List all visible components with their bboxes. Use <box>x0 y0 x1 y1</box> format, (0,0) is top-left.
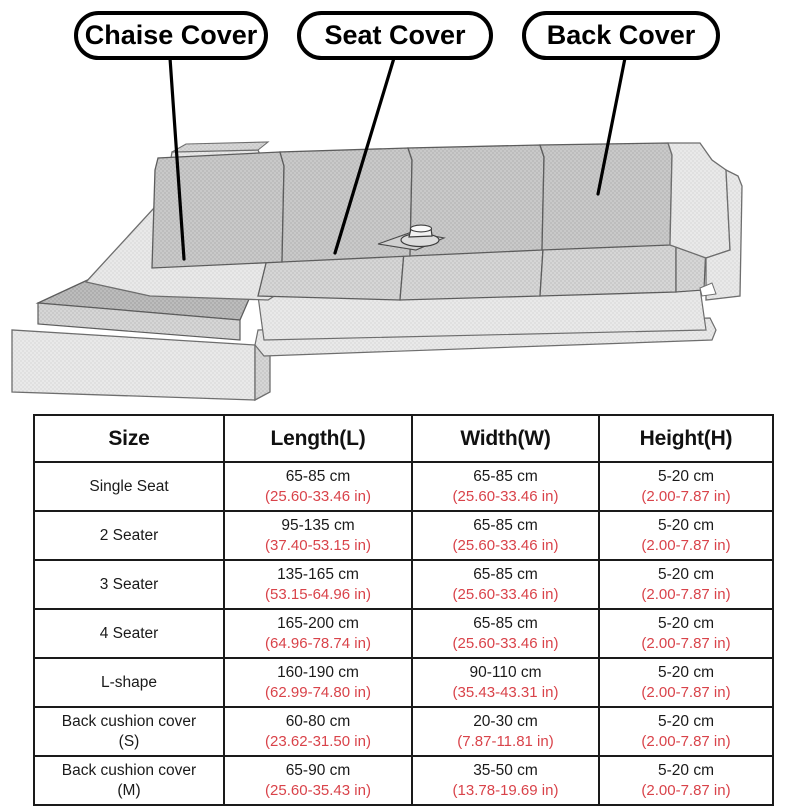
size-label: L-shape <box>35 673 223 693</box>
cell-length-cm: 60-80 cm <box>225 712 411 732</box>
cell-width-inch: (25.60-33.46 in) <box>413 585 598 604</box>
cell-size: 4 Seater <box>34 609 224 658</box>
cell-height-inch: (2.00-7.87 in) <box>600 585 772 604</box>
cell-length-cm: 95-135 cm <box>225 516 411 536</box>
back-cushion-1 <box>152 152 284 268</box>
cell-height: 5-20 cm(2.00-7.87 in) <box>599 707 773 756</box>
cell-height-inch: (2.00-7.87 in) <box>600 487 772 506</box>
table-row: 4 Seater165-200 cm(64.96-78.74 in)65-85 … <box>34 609 773 658</box>
table-row: 3 Seater135-165 cm(53.15-64.96 in)65-85 … <box>34 560 773 609</box>
cell-length: 165-200 cm(64.96-78.74 in) <box>224 609 412 658</box>
cell-height-inch: (2.00-7.87 in) <box>600 732 772 751</box>
callout-label-back: Back Cover <box>547 20 696 50</box>
cell-height: 5-20 cm(2.00-7.87 in) <box>599 756 773 805</box>
cell-width-inch: (25.60-33.46 in) <box>413 634 598 653</box>
cell-width-cm: 65-85 cm <box>413 516 598 536</box>
cell-width: 20-30 cm(7.87-11.81 in) <box>412 707 599 756</box>
cell-length-cm: 165-200 cm <box>225 614 411 634</box>
cell-length-inch: (62.99-74.80 in) <box>225 683 411 702</box>
size-label: Back cushion cover <box>35 761 223 781</box>
sofa-illustration: Chaise Cover Seat Cover Back Cover <box>0 0 800 408</box>
cell-length-inch: (53.15-64.96 in) <box>225 585 411 604</box>
cell-height: 5-20 cm(2.00-7.87 in) <box>599 462 773 511</box>
cell-width-inch: (25.60-33.46 in) <box>413 487 598 506</box>
cell-width: 65-85 cm(25.60-33.46 in) <box>412 511 599 560</box>
cell-length: 160-190 cm(62.99-74.80 in) <box>224 658 412 707</box>
cell-length-inch: (23.62-31.50 in) <box>225 732 411 751</box>
table-row: Single Seat65-85 cm(25.60-33.46 in)65-85… <box>34 462 773 511</box>
cell-height: 5-20 cm(2.00-7.87 in) <box>599 560 773 609</box>
cell-height: 5-20 cm(2.00-7.87 in) <box>599 609 773 658</box>
cell-width-cm: 90-110 cm <box>413 663 598 683</box>
size-label: Single Seat <box>35 477 223 497</box>
size-label: 2 Seater <box>35 526 223 546</box>
cell-length-inch: (25.60-35.43 in) <box>225 781 411 800</box>
callout-label-chaise: Chaise Cover <box>85 20 258 50</box>
cell-width-inch: (7.87-11.81 in) <box>413 732 598 751</box>
cell-size: L-shape <box>34 658 224 707</box>
cell-height-cm: 5-20 cm <box>600 712 772 732</box>
cell-height-cm: 5-20 cm <box>600 467 772 487</box>
cell-height-cm: 5-20 cm <box>600 565 772 585</box>
cell-width: 35-50 cm(13.78-19.69 in) <box>412 756 599 805</box>
cell-length-cm: 160-190 cm <box>225 663 411 683</box>
table-header-row: Size Length(L) Width(W) Height(H) <box>34 415 773 462</box>
cell-height-inch: (2.00-7.87 in) <box>600 683 772 702</box>
cell-height: 5-20 cm(2.00-7.87 in) <box>599 658 773 707</box>
cell-width: 65-85 cm(25.60-33.46 in) <box>412 462 599 511</box>
cell-height-inch: (2.00-7.87 in) <box>600 781 772 800</box>
cell-width-cm: 65-85 cm <box>413 565 598 585</box>
cell-width: 65-85 cm(25.60-33.46 in) <box>412 560 599 609</box>
cell-length-inch: (64.96-78.74 in) <box>225 634 411 653</box>
cell-length-cm: 135-165 cm <box>225 565 411 585</box>
size-chart: Size Length(L) Width(W) Height(H) Single… <box>33 414 772 806</box>
cell-width: 90-110 cm(35.43-43.31 in) <box>412 658 599 707</box>
cell-length-inch: (37.40-53.15 in) <box>225 536 411 555</box>
column-header-width: Width(W) <box>412 415 599 462</box>
cell-size: Single Seat <box>34 462 224 511</box>
cell-height-cm: 5-20 cm <box>600 761 772 781</box>
cell-length: 95-135 cm(37.40-53.15 in) <box>224 511 412 560</box>
cell-length-inch: (25.60-33.46 in) <box>225 487 411 506</box>
cell-size: Back cushion cover(S) <box>34 707 224 756</box>
size-variant: (M) <box>35 781 223 801</box>
callout-label-seat: Seat Cover <box>324 20 466 50</box>
cell-size: Back cushion cover(M) <box>34 756 224 805</box>
cell-height-cm: 5-20 cm <box>600 663 772 683</box>
sofa-body <box>12 142 742 400</box>
cell-length: 65-90 cm(25.60-35.43 in) <box>224 756 412 805</box>
cell-height-inch: (2.00-7.87 in) <box>600 634 772 653</box>
column-header-height: Height(H) <box>599 415 773 462</box>
cell-width-cm: 20-30 cm <box>413 712 598 732</box>
cell-height-cm: 5-20 cm <box>600 516 772 536</box>
cell-length: 65-85 cm(25.60-33.46 in) <box>224 462 412 511</box>
cell-height: 5-20 cm(2.00-7.87 in) <box>599 511 773 560</box>
cell-length-cm: 65-85 cm <box>225 467 411 487</box>
size-variant: (S) <box>35 732 223 752</box>
cell-width-inch: (25.60-33.46 in) <box>413 536 598 555</box>
size-chart-table: Size Length(L) Width(W) Height(H) Single… <box>33 414 774 806</box>
cell-height-cm: 5-20 cm <box>600 614 772 634</box>
cell-length-cm: 65-90 cm <box>225 761 411 781</box>
table-row: 2 Seater95-135 cm(37.40-53.15 in)65-85 c… <box>34 511 773 560</box>
cell-length: 135-165 cm(53.15-64.96 in) <box>224 560 412 609</box>
cell-length: 60-80 cm(23.62-31.50 in) <box>224 707 412 756</box>
chaise-base <box>12 330 255 400</box>
table-row: Back cushion cover(M)65-90 cm(25.60-35.4… <box>34 756 773 805</box>
cell-width-cm: 65-85 cm <box>413 614 598 634</box>
column-header-length: Length(L) <box>224 415 412 462</box>
cell-size: 2 Seater <box>34 511 224 560</box>
table-row: L-shape160-190 cm(62.99-74.80 in)90-110 … <box>34 658 773 707</box>
size-label: 4 Seater <box>35 624 223 644</box>
cell-height-inch: (2.00-7.87 in) <box>600 536 772 555</box>
cup-rim <box>411 225 432 232</box>
right-armrest <box>668 143 730 258</box>
table-row: Back cushion cover(S)60-80 cm(23.62-31.5… <box>34 707 773 756</box>
cell-width-cm: 35-50 cm <box>413 761 598 781</box>
cell-width-cm: 65-85 cm <box>413 467 598 487</box>
size-label: Back cushion cover <box>35 712 223 732</box>
column-header-size: Size <box>34 415 224 462</box>
cell-size: 3 Seater <box>34 560 224 609</box>
cell-width-inch: (13.78-19.69 in) <box>413 781 598 800</box>
size-label: 3 Seater <box>35 575 223 595</box>
cell-width: 65-85 cm(25.60-33.46 in) <box>412 609 599 658</box>
cell-width-inch: (35.43-43.31 in) <box>413 683 598 702</box>
chaise-armrest-top <box>172 142 268 152</box>
